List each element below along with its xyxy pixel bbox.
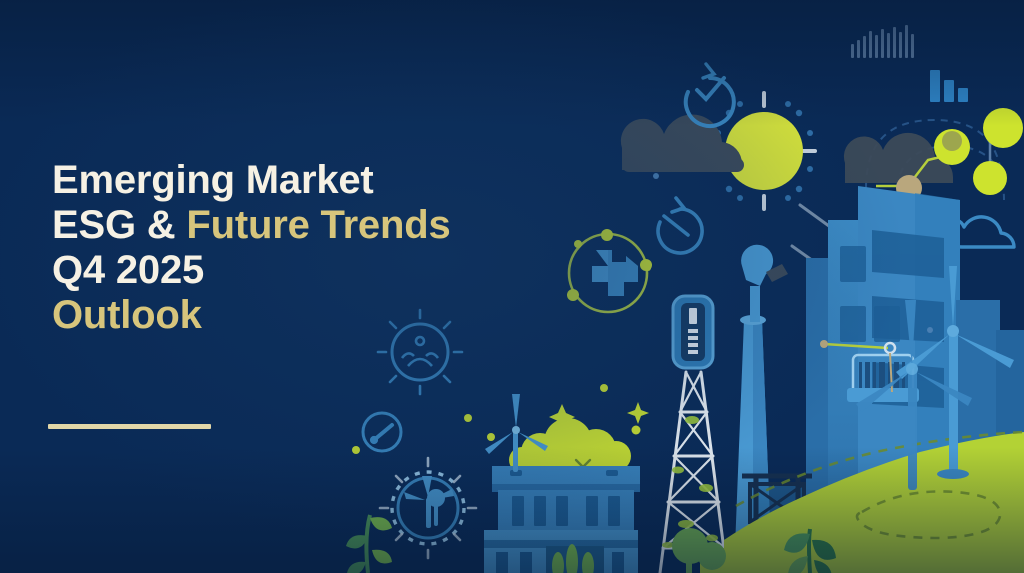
title-line-3: Q4 2025 bbox=[52, 248, 572, 293]
compass-icon bbox=[363, 413, 401, 451]
title-line-1: Emerging Market bbox=[52, 158, 572, 203]
plant-sprout-icon bbox=[346, 515, 392, 573]
battery-tower-icon bbox=[673, 296, 713, 368]
presentation-slide: Emerging Market ESG & Future Trends Q4 2… bbox=[0, 0, 1024, 573]
cloud-icon bbox=[621, 114, 744, 172]
waveform-icon bbox=[851, 25, 914, 58]
refresh-circle-icon bbox=[658, 198, 702, 253]
title-line-2-white: ESG & bbox=[52, 203, 186, 247]
bar-chart-icon bbox=[930, 70, 968, 102]
title-line-4: Outlook bbox=[52, 293, 572, 338]
title-line-2: ESG & Future Trends bbox=[52, 203, 572, 248]
turbine-badge-icon bbox=[380, 458, 476, 558]
check-circle-icon bbox=[686, 64, 734, 126]
green-roof-building bbox=[484, 418, 640, 573]
title-line-2-gold: Future Trends bbox=[186, 203, 450, 247]
bush-decor bbox=[672, 528, 726, 573]
title-divider bbox=[48, 424, 211, 429]
title-block: Emerging Market ESG & Future Trends Q4 2… bbox=[52, 158, 572, 338]
